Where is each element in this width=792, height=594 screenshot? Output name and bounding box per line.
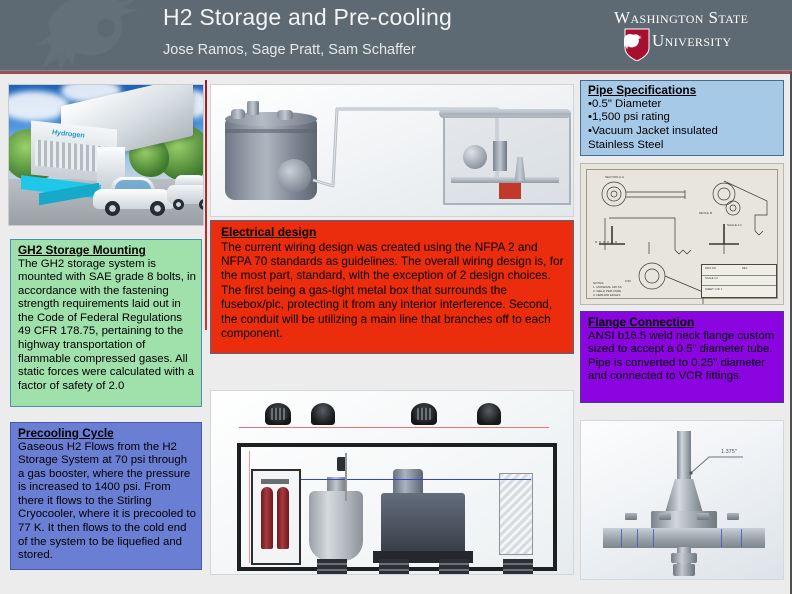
white-car <box>93 177 175 213</box>
pipe-specifications-box: Pipe Specifications •0.5" Diameter •1,50… <box>580 80 784 156</box>
pressure-gauge <box>463 145 487 169</box>
cryo-drawer-right <box>439 559 469 575</box>
gh2-box-body: The GH2 storage system is mounted with S… <box>18 258 196 394</box>
dewar-base-drawer <box>317 559 347 575</box>
header-rule <box>0 70 792 74</box>
gas-cylinder-cabinet <box>251 469 301 565</box>
svg-text:DETAIL B: DETAIL B <box>699 211 712 215</box>
flange-bolt-2 <box>659 513 671 520</box>
hydrogen-station-photo: Hydrogen <box>8 84 204 226</box>
cougar-head-icon <box>28 0 148 70</box>
wsu-logo-line1: Washington State <box>614 8 748 28</box>
wsu-logo-line2: University <box>652 31 732 51</box>
internal-riser <box>345 453 347 501</box>
flange-connection-box: Flange Connection ANSI b16.5 weld neck f… <box>580 311 784 403</box>
wsu-logo: Washington State University <box>606 8 784 62</box>
flange-bolt-4 <box>727 513 739 520</box>
precooling-cycle-box: Precooling Cycle Gaseous H2 Flows from t… <box>10 422 202 570</box>
column-divider <box>205 80 207 330</box>
cryo-drawer-left <box>379 559 409 575</box>
flange-neck-cone <box>665 479 703 513</box>
drawing-title-block: DWG NO. REV SCALE 1:2 SHEET 1 OF 1 <box>701 264 777 298</box>
pipespec-bullet-1: •0.5" Diameter <box>588 98 778 112</box>
flange-box-body: ANSI b16.5 weld neck flange custom sized… <box>588 330 778 384</box>
container-enclosure <box>237 443 557 571</box>
flange-bolt-3 <box>697 513 709 520</box>
enclosure-layout-drawing <box>210 390 574 575</box>
electrical-box-title: Electrical design <box>221 225 565 240</box>
electrical-design-box: Electrical design The current wiring des… <box>210 220 574 354</box>
stirling-cryocooler <box>381 493 465 555</box>
skid-valve-1 <box>493 141 507 171</box>
pipespec-bullet-2: •1,500 psi rating <box>588 111 778 125</box>
background-car <box>167 175 204 207</box>
precool-box-body: Gaseous H2 Flows from the H2 Storage Sys… <box>18 441 196 563</box>
heat-exchanger-panel <box>499 473 533 555</box>
gh2-storage-mounting-box: GH2 Storage Mounting The GH2 storage sys… <box>10 239 202 407</box>
gh2-box-title: GH2 Storage Mounting <box>18 243 196 258</box>
weld-neck-flange-render: 1.375" <box>580 420 784 580</box>
svg-text:SECTION A-A: SECTION A-A <box>605 175 624 179</box>
dimension-leader <box>689 453 745 475</box>
electrical-box-body: The current wiring design was created us… <box>221 240 565 341</box>
vent-cap-2 <box>411 403 437 425</box>
flange-box-title: Flange Connection <box>588 315 778 330</box>
pipespec-title: Pipe Specifications <box>588 83 778 98</box>
precool-box-title: Precooling Cycle <box>18 426 196 441</box>
svg-text:3. DEBURR EDGES: 3. DEBURR EDGES <box>593 293 620 297</box>
poster-header: H2 Storage and Pre-cooling Jose Ramos, S… <box>0 0 792 70</box>
dimension-callout-text: 1.375" <box>721 449 737 455</box>
heatx-drawer <box>503 559 533 575</box>
ln2-dewar <box>309 491 363 561</box>
vent-cap-1 <box>265 403 291 425</box>
dimension-line-top <box>239 427 549 428</box>
svg-text:0.50: 0.50 <box>625 279 631 283</box>
flange-drawing-sheet: SECTION A-A DETAIL B SCALE 2:1 NOTES: 1.… <box>580 163 784 305</box>
exhaust-fan-2 <box>477 403 501 425</box>
skid-red-component <box>499 183 521 199</box>
pipespec-trailing: Stainless Steel <box>588 139 778 153</box>
poster-authors: Jose Ramos, Sage Pratt, Sam Schaffer <box>163 42 416 58</box>
wsu-shield-icon <box>624 28 650 61</box>
exhaust-fan-1 <box>311 403 335 425</box>
tank-skid-cad-render <box>210 84 574 217</box>
page-title: H2 Storage and Pre-cooling <box>163 4 452 31</box>
vcr-fitting-nut-1 <box>671 553 697 563</box>
flange-bolt-1 <box>625 513 637 520</box>
pipespec-bullet-3: •Vacuum Jacket insulated <box>588 125 778 139</box>
svg-text:SCALE 2:1: SCALE 2:1 <box>727 223 742 227</box>
vcr-fitting-nut-2 <box>673 564 695 576</box>
